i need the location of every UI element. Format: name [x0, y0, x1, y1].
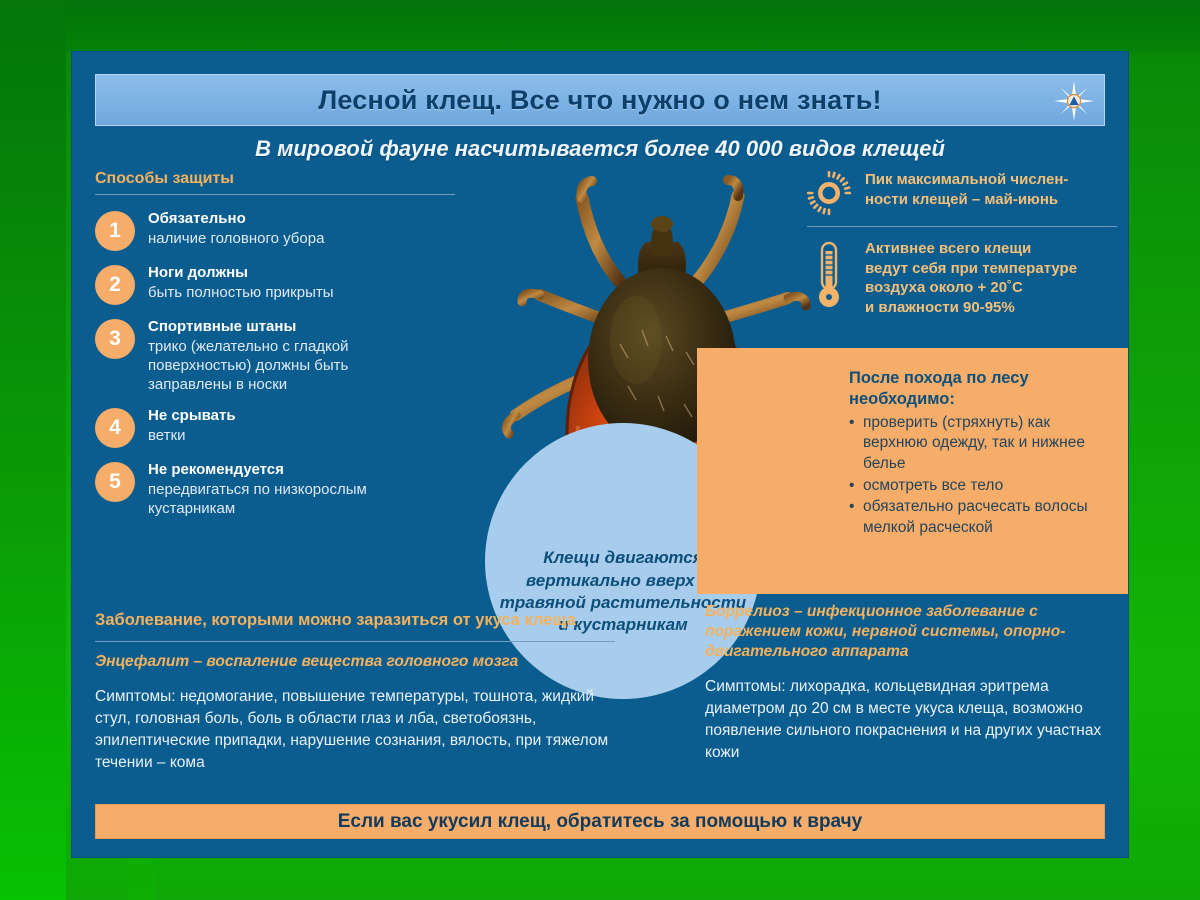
list-item: осмотреть все тело [849, 476, 1119, 497]
poster-card: Лесной клещ. Все что нужно о нем знать! [72, 52, 1128, 857]
list-number-badge: 2 [95, 265, 135, 305]
list-number-badge: 4 [95, 408, 135, 448]
list-item-title: Спортивные штаны [148, 318, 398, 337]
list-item-title: Не рекомендуется [148, 461, 393, 480]
after-walk-list: проверить (стряхнуть) как верхнюю одежду… [849, 413, 1119, 539]
protection-list: 1 Обязательно наличие головного убора 2 … [95, 209, 455, 518]
encephalitis-symptoms: Симптомы: недомогание, повышение темпера… [95, 686, 615, 774]
list-item: проверить (стряхнуть) как верхнюю одежду… [849, 413, 1119, 475]
protection-section: Способы защиты 1 Обязательно наличие гол… [95, 170, 455, 518]
emercom-star-emblem [1054, 81, 1094, 121]
list-number-badge: 5 [95, 462, 135, 502]
borreliosis-title: Боррелиоз – инфекционное заболевание с п… [705, 602, 1115, 662]
list-item-desc: быть полностью прикрыты [148, 283, 334, 302]
list-item-title: Ноги должны [148, 264, 334, 283]
list-item-desc: наличие головного убора [148, 229, 324, 248]
list-item-desc: передвигаться по низкорослым кустарникам [148, 480, 393, 518]
borreliosis-symptoms: Симптомы: лихорадка, кольцевидная эритре… [705, 676, 1115, 764]
fact-row-peak: Пик максимальной числен- ности клещей – … [807, 170, 1117, 215]
background-top-band [0, 0, 1200, 52]
page-title: Лесной клещ. Все что нужно о нем знать! [318, 85, 881, 116]
list-item: обязательно расчесать волосы мелкой расч… [849, 497, 1119, 538]
fact-row-temperature: Активнее всего клещи ведут себя при темп… [807, 239, 1117, 317]
diseases-section: Заболевание, которыми можно заразиться о… [95, 610, 695, 774]
borreliosis-section: Боррелиоз – инфекционное заболевание с п… [705, 602, 1115, 764]
list-item-desc: ветки [148, 426, 236, 445]
list-item: 5 Не рекомендуется передвигаться по низк… [95, 460, 455, 518]
list-number-badge: 3 [95, 319, 135, 359]
list-item-title: Обязательно [148, 210, 324, 229]
thermometer-icon [814, 241, 844, 311]
encephalitis-title: Энцефалит – воспаление вещества головног… [95, 652, 695, 672]
list-item-desc: трико (желательно с гладкой поверхностью… [148, 337, 398, 395]
footer-banner: Если вас укусил клещ, обратитесь за помо… [95, 804, 1105, 839]
fact-text-peak: Пик максимальной числен- ности клещей – … [865, 170, 1068, 209]
after-walk-panel: После похода по лесу необходимо: провери… [697, 348, 1128, 594]
after-walk-heading: После похода по лесу необходимо: [849, 368, 1119, 411]
fact-text-temperature: Активнее всего клещи ведут себя при темп… [865, 239, 1077, 317]
background-left-strip [0, 0, 66, 900]
sun-icon [807, 171, 851, 215]
list-item: 4 Не срывать ветки [95, 406, 455, 448]
divider [95, 641, 615, 642]
title-banner: Лесной клещ. Все что нужно о нем знать! [95, 74, 1105, 126]
protection-heading: Способы защиты [95, 170, 455, 194]
divider [807, 226, 1117, 227]
footer-banner-text: Если вас укусил клещ, обратитесь за помо… [338, 811, 863, 833]
list-item: 2 Ноги должны быть полностью прикрыты [95, 263, 455, 305]
list-item: 3 Спортивные штаны трико (желательно с г… [95, 317, 455, 394]
divider [95, 194, 455, 195]
list-item-title: Не срывать [148, 407, 236, 426]
poster-subtitle: В мировой фауне насчитывается более 40 0… [72, 136, 1128, 162]
facts-section: Пик максимальной числен- ности клещей – … [807, 170, 1117, 317]
list-number-badge: 1 [95, 211, 135, 251]
diseases-heading: Заболевание, которыми можно заразиться о… [95, 610, 695, 631]
list-item: 1 Обязательно наличие головного убора [95, 209, 455, 251]
